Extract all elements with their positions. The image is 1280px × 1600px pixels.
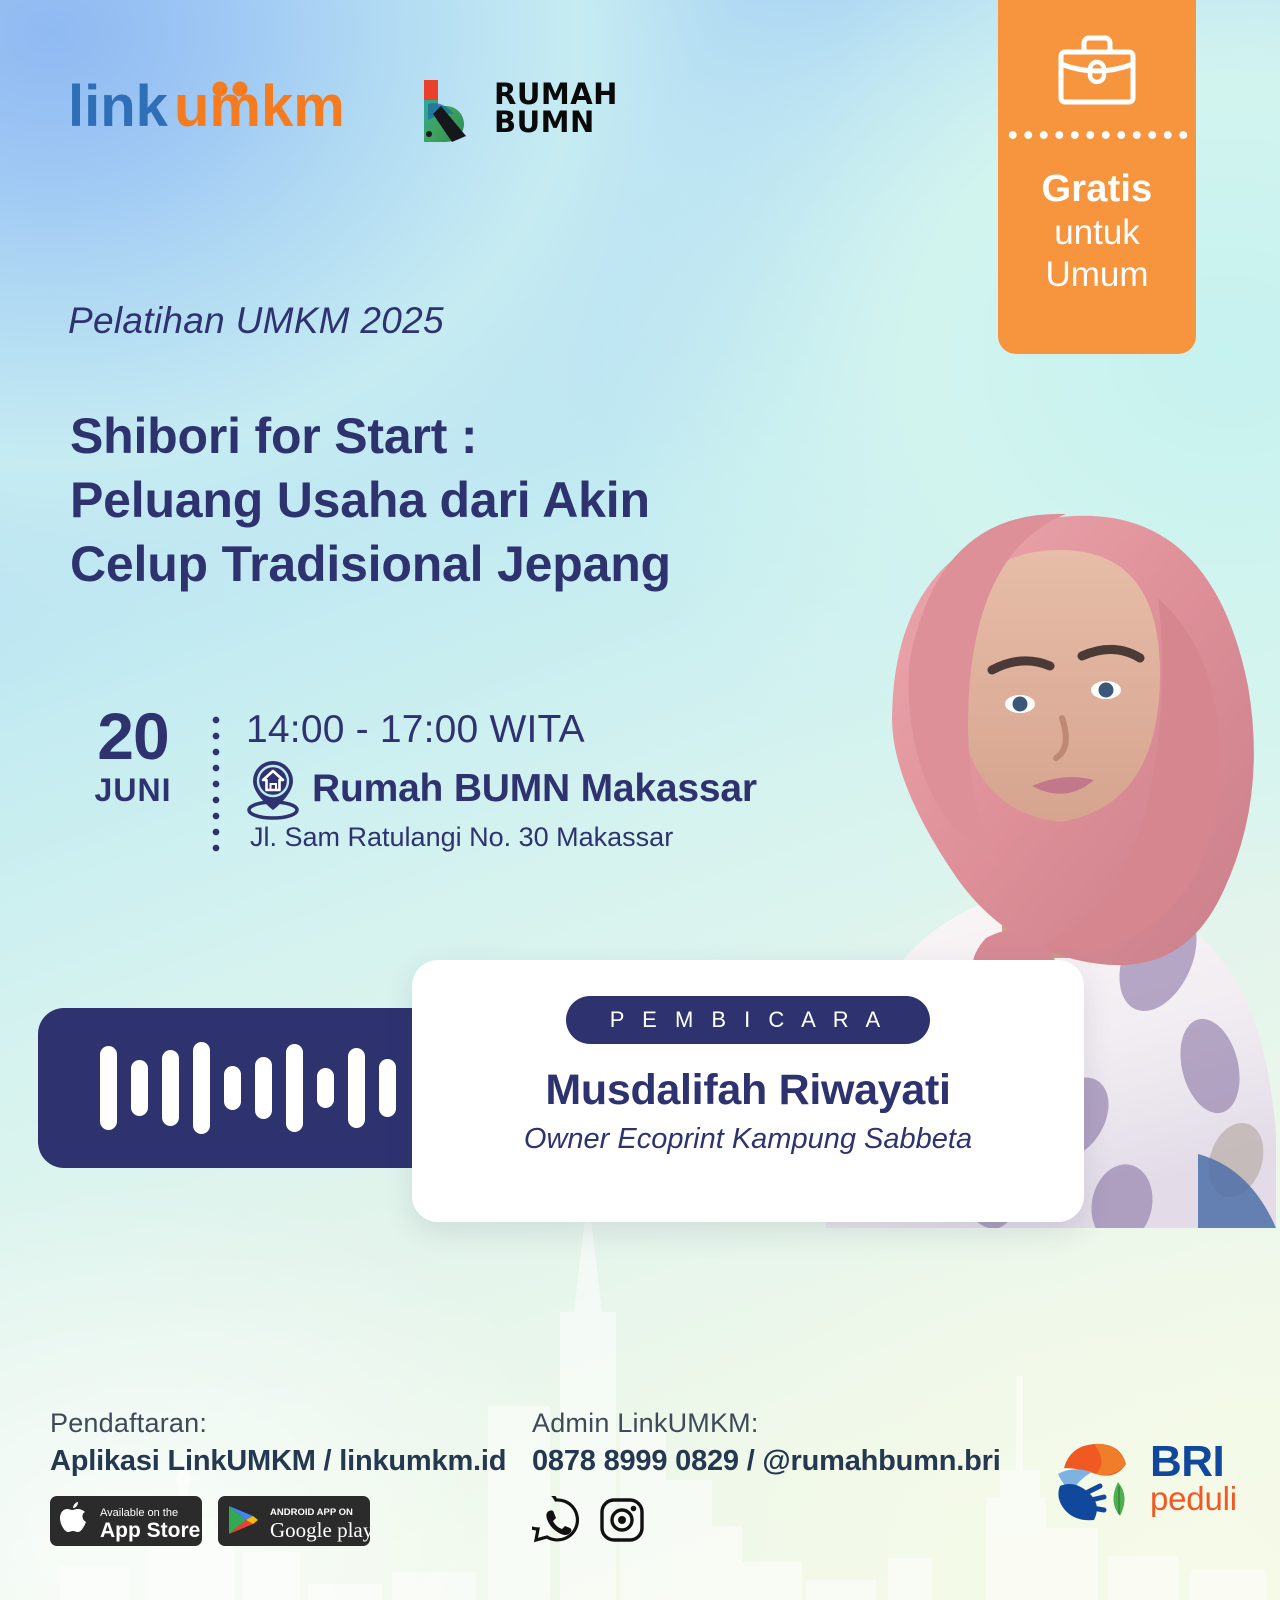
waveform-bar-7 bbox=[286, 1044, 303, 1132]
vertical-dotted-divider bbox=[212, 712, 220, 853]
badge-dotted-divider bbox=[1004, 130, 1190, 140]
event-title: Shibori for Start : Peluang Usaha dari A… bbox=[70, 404, 830, 596]
whatsapp-icon[interactable] bbox=[532, 1496, 580, 1544]
peduli-text: peduli bbox=[1150, 1484, 1237, 1514]
event-month: JUNI bbox=[68, 773, 198, 808]
instagram-icon[interactable] bbox=[598, 1496, 646, 1544]
app-store-badges: Available on the App Store ANDROID APP O… bbox=[50, 1496, 520, 1546]
google-play-big-text: Google play bbox=[270, 1518, 370, 1542]
event-venue: Rumah BUMN Makassar bbox=[312, 767, 757, 811]
waveform-bar-2 bbox=[131, 1060, 148, 1116]
admin-value: 0878 8999 0829 / @rumahbumn.bri bbox=[532, 1445, 1032, 1478]
bri-text: BRI bbox=[1150, 1442, 1237, 1482]
app-store-small-text: Available on the bbox=[100, 1507, 178, 1519]
badge-line-gratis: Gratis bbox=[1041, 168, 1152, 211]
briefcase-icon bbox=[1054, 34, 1140, 108]
waveform-bars bbox=[100, 1008, 396, 1168]
bri-peduli-logo: BRI peduli bbox=[1044, 1430, 1237, 1526]
speaker-role: Owner Ecoprint Kampung Sabbeta bbox=[524, 1123, 972, 1156]
registration-block: Pendaftaran: Aplikasi LinkUMKM / linkumk… bbox=[50, 1408, 520, 1546]
badge-line-umum: Umum bbox=[1045, 255, 1148, 295]
event-venue-row: Rumah BUMN Makassar bbox=[246, 758, 858, 820]
gratis-badge: Gratis untuk Umum bbox=[998, 0, 1196, 354]
event-title-line3: Celup Tradisional Jepang bbox=[70, 532, 830, 596]
event-day: 20 bbox=[68, 706, 198, 767]
waveform-bar-9 bbox=[348, 1048, 365, 1128]
poster-canvas: link umkm bbox=[0, 0, 1280, 1600]
rumah-bumn-wordmark: RUMAH BUMN bbox=[494, 81, 618, 137]
event-time: 14:00 - 17:00 WITA bbox=[246, 708, 858, 752]
registration-label: Pendaftaran: bbox=[50, 1408, 520, 1439]
rumah-bumn-mark-icon bbox=[408, 72, 482, 146]
speaker-name: Musdalifah Riwayati bbox=[545, 1066, 950, 1115]
header-logos: link umkm bbox=[68, 72, 618, 146]
registration-value: Aplikasi LinkUMKM / linkumkm.id bbox=[50, 1445, 520, 1478]
event-date: 20 JUNI bbox=[68, 706, 198, 808]
waveform-bar-8 bbox=[317, 1068, 334, 1108]
speaker-pill-label: P E M B I C A R A bbox=[566, 996, 930, 1044]
social-icons bbox=[532, 1496, 1032, 1544]
waveform-bar-4 bbox=[193, 1042, 210, 1134]
event-title-line2: Peluang Usaha dari Akin bbox=[70, 468, 830, 532]
event-address: Jl. Sam Ratulangi No. 30 Makassar bbox=[250, 822, 858, 853]
waveform-bar-10 bbox=[379, 1059, 396, 1117]
linkumkm-logo-link: link bbox=[68, 76, 169, 139]
bri-peduli-mark-icon bbox=[1044, 1430, 1140, 1526]
speaker-card: P E M B I C A R A Musdalifah Riwayati Ow… bbox=[412, 960, 1084, 1222]
event-when-where: 14:00 - 17:00 WITA Rumah BUMN Makassar J… bbox=[246, 706, 858, 853]
admin-contact-block: Admin LinkUMKM: 0878 8999 0829 / @rumahb… bbox=[532, 1408, 1032, 1544]
event-details: 20 JUNI 14:00 - 17:00 WITA Rumah BUMN Ma… bbox=[68, 706, 858, 853]
bri-peduli-wordmark: BRI peduli bbox=[1150, 1442, 1237, 1515]
waveform-bar-3 bbox=[162, 1050, 179, 1126]
badge-line-untuk: untuk bbox=[1054, 213, 1140, 253]
linkumkm-logo: link umkm bbox=[68, 76, 356, 142]
waveform-bar-1 bbox=[100, 1046, 117, 1130]
app-store-big-text: App Store bbox=[100, 1519, 200, 1542]
app-store-badge[interactable]: Available on the App Store bbox=[50, 1496, 202, 1546]
event-kicker: Pelatihan UMKM 2025 bbox=[68, 300, 444, 342]
google-play-small-text: ANDROID APP ON bbox=[270, 1507, 353, 1518]
location-pin-icon bbox=[246, 758, 300, 820]
google-play-badge[interactable]: ANDROID APP ON Google play bbox=[218, 1496, 370, 1546]
event-title-line1: Shibori for Start : bbox=[70, 404, 830, 468]
waveform-bar-6 bbox=[255, 1057, 272, 1119]
rumah-bumn-logo: RUMAH BUMN bbox=[408, 72, 618, 146]
admin-label: Admin LinkUMKM: bbox=[532, 1408, 1032, 1439]
waveform-bar-5 bbox=[224, 1066, 241, 1110]
linkumkm-logo-umkm: umkm bbox=[174, 76, 345, 139]
rumah-bumn-line2: BUMN bbox=[494, 109, 618, 137]
